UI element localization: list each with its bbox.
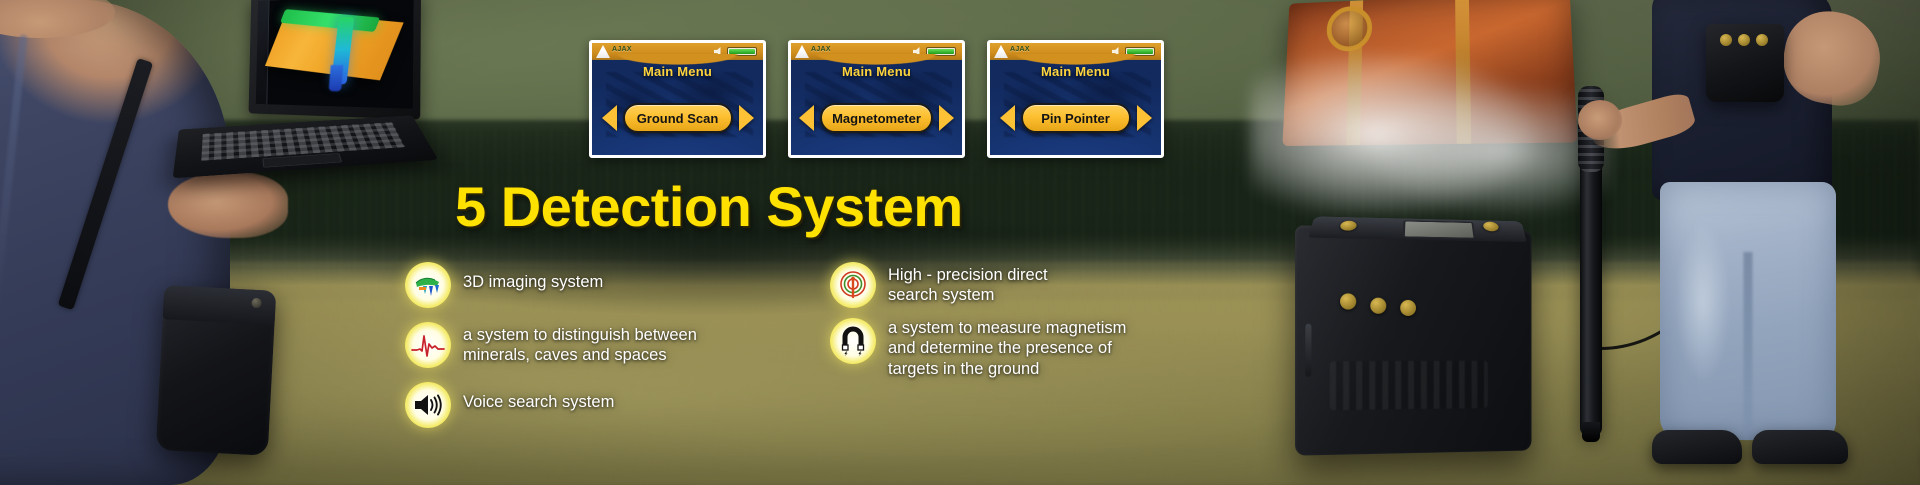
laptop-base (173, 115, 439, 178)
prev-mode-arrow-icon[interactable] (602, 105, 617, 131)
panel-status-bar: AJAX (791, 43, 962, 60)
brand-logo-icon (994, 45, 1008, 58)
list-item-line: search system (888, 285, 1048, 305)
shirt-fold (0, 34, 28, 333)
battery-icon (727, 47, 757, 56)
feature-list-left: 3D imaging system a system to distinguis… (405, 262, 805, 442)
panel-mode-selector: Magnetometer (791, 103, 962, 133)
mode-button[interactable]: Magnetometer (820, 103, 933, 133)
laptop (178, 0, 438, 208)
panel-title: Main Menu (791, 64, 962, 79)
shoulder-bag (156, 285, 276, 456)
magnet-icon (830, 318, 876, 364)
battery-fill (1127, 49, 1153, 54)
battery-fill (729, 49, 755, 54)
device-screen-panels: AJAX Main Menu Ground Scan AJAX (589, 40, 1164, 158)
operator2-left-hand (1578, 100, 1622, 140)
list-item: 3D imaging system (405, 262, 805, 308)
operator2-shoe (1652, 430, 1742, 464)
list-item-label: Voice search system (463, 382, 614, 412)
panel-status-bar: AJAX (990, 43, 1161, 60)
device-panel-magnetometer[interactable]: AJAX Main Menu Magnetometer (788, 40, 965, 158)
next-mode-arrow-icon[interactable] (939, 105, 954, 131)
page-title: 5 Detection System (455, 174, 963, 239)
unit-vent (1305, 324, 1311, 377)
list-item-line: and determine the presence of (888, 338, 1126, 358)
chest-lock-icon (1326, 5, 1372, 52)
waveform-icon (405, 322, 451, 368)
list-item-line: a system to measure magnetism (888, 318, 1126, 338)
list-item-label: a system to measure magnetism and determ… (888, 318, 1126, 379)
unit-knob-icon (1340, 293, 1356, 309)
jeans-fade-highlight (1676, 222, 1730, 382)
panel-mode-selector: Ground Scan (592, 103, 763, 133)
speaker-icon (405, 382, 451, 428)
next-mode-arrow-icon[interactable] (1137, 105, 1152, 131)
battery-icon (926, 47, 956, 56)
brand-name: AJAX (1010, 46, 1030, 53)
unit-knob-icon (1339, 221, 1357, 231)
operator-with-laptop-photo (0, 0, 470, 485)
unit-knob-icon (1400, 300, 1416, 316)
list-item: a system to measure magnetism and determ… (830, 318, 1250, 379)
prev-mode-arrow-icon[interactable] (799, 105, 814, 131)
list-item-label: 3D imaging system (463, 262, 603, 292)
unit-top-panel (1308, 216, 1526, 242)
list-item: High - precision direct search system (830, 262, 1250, 308)
mode-button[interactable]: Ground Scan (623, 103, 733, 133)
operator2-jeans (1660, 182, 1836, 440)
list-item: Voice search system (405, 382, 805, 428)
panel-title: Main Menu (592, 64, 763, 79)
pinpointer-probe (1580, 96, 1602, 436)
list-item-line: a system to distinguish between (463, 325, 697, 345)
laptop-lid (249, 0, 421, 120)
list-item-line: targets in the ground (888, 359, 1126, 379)
panel-title: Main Menu (990, 64, 1161, 79)
target-signal-icon (830, 262, 876, 308)
pouch-knob-icon (1720, 34, 1732, 46)
ground-scanner-unit (1295, 225, 1531, 455)
device-panel-pin-pointer[interactable]: AJAX Main Menu Pin Pointer (987, 40, 1164, 158)
feature-list-right: High - precision direct search system a … (830, 262, 1250, 393)
panel-status-bar: AJAX (592, 43, 763, 60)
panel-mode-selector: Pin Pointer (990, 103, 1161, 133)
next-mode-arrow-icon[interactable] (739, 105, 754, 131)
chest-mist (1250, 54, 1610, 214)
detection-system-banner: AJAX Main Menu Ground Scan AJAX (0, 0, 1920, 485)
operator-head (0, 0, 115, 38)
brand-logo-icon (795, 45, 809, 58)
unit-knob-icon (1483, 222, 1500, 232)
3d-scan-icon (405, 262, 451, 308)
list-item-label: High - precision direct search system (888, 262, 1048, 306)
pouch-knob-icon (1756, 34, 1768, 46)
speaker-icon (913, 47, 922, 56)
list-item: a system to distinguish between minerals… (405, 322, 805, 368)
scan-target-tail (328, 65, 343, 91)
prev-mode-arrow-icon[interactable] (1000, 105, 1015, 131)
control-pouch (1706, 24, 1784, 102)
unit-display-screen (1403, 220, 1476, 239)
speaker-icon (1112, 47, 1121, 56)
unit-knob-icon (1370, 298, 1386, 314)
battery-fill (928, 49, 954, 54)
operator-with-probe-photo (1260, 0, 1920, 485)
brand-name: AJAX (811, 46, 831, 53)
device-panel-ground-scan[interactable]: AJAX Main Menu Ground Scan (589, 40, 766, 158)
probe-tip (1582, 422, 1600, 442)
list-item-line: minerals, caves and spaces (463, 345, 697, 365)
unit-brand-emboss (1330, 361, 1488, 410)
list-item-label: a system to distinguish between minerals… (463, 322, 697, 366)
battery-icon (1125, 47, 1155, 56)
scan-software-sidebar (256, 0, 270, 104)
jeans-leg-seam (1744, 252, 1753, 440)
speaker-icon (714, 47, 723, 56)
treasure-chest (1280, 0, 1570, 144)
brand-logo-icon (596, 45, 610, 58)
operator2-shoe (1752, 430, 1848, 464)
laptop-screen-3d-scan (256, 0, 414, 109)
pouch-knob-icon (1738, 34, 1750, 46)
list-item-line: High - precision direct (888, 265, 1048, 285)
mode-button[interactable]: Pin Pointer (1021, 103, 1131, 133)
brand-name: AJAX (612, 46, 632, 53)
